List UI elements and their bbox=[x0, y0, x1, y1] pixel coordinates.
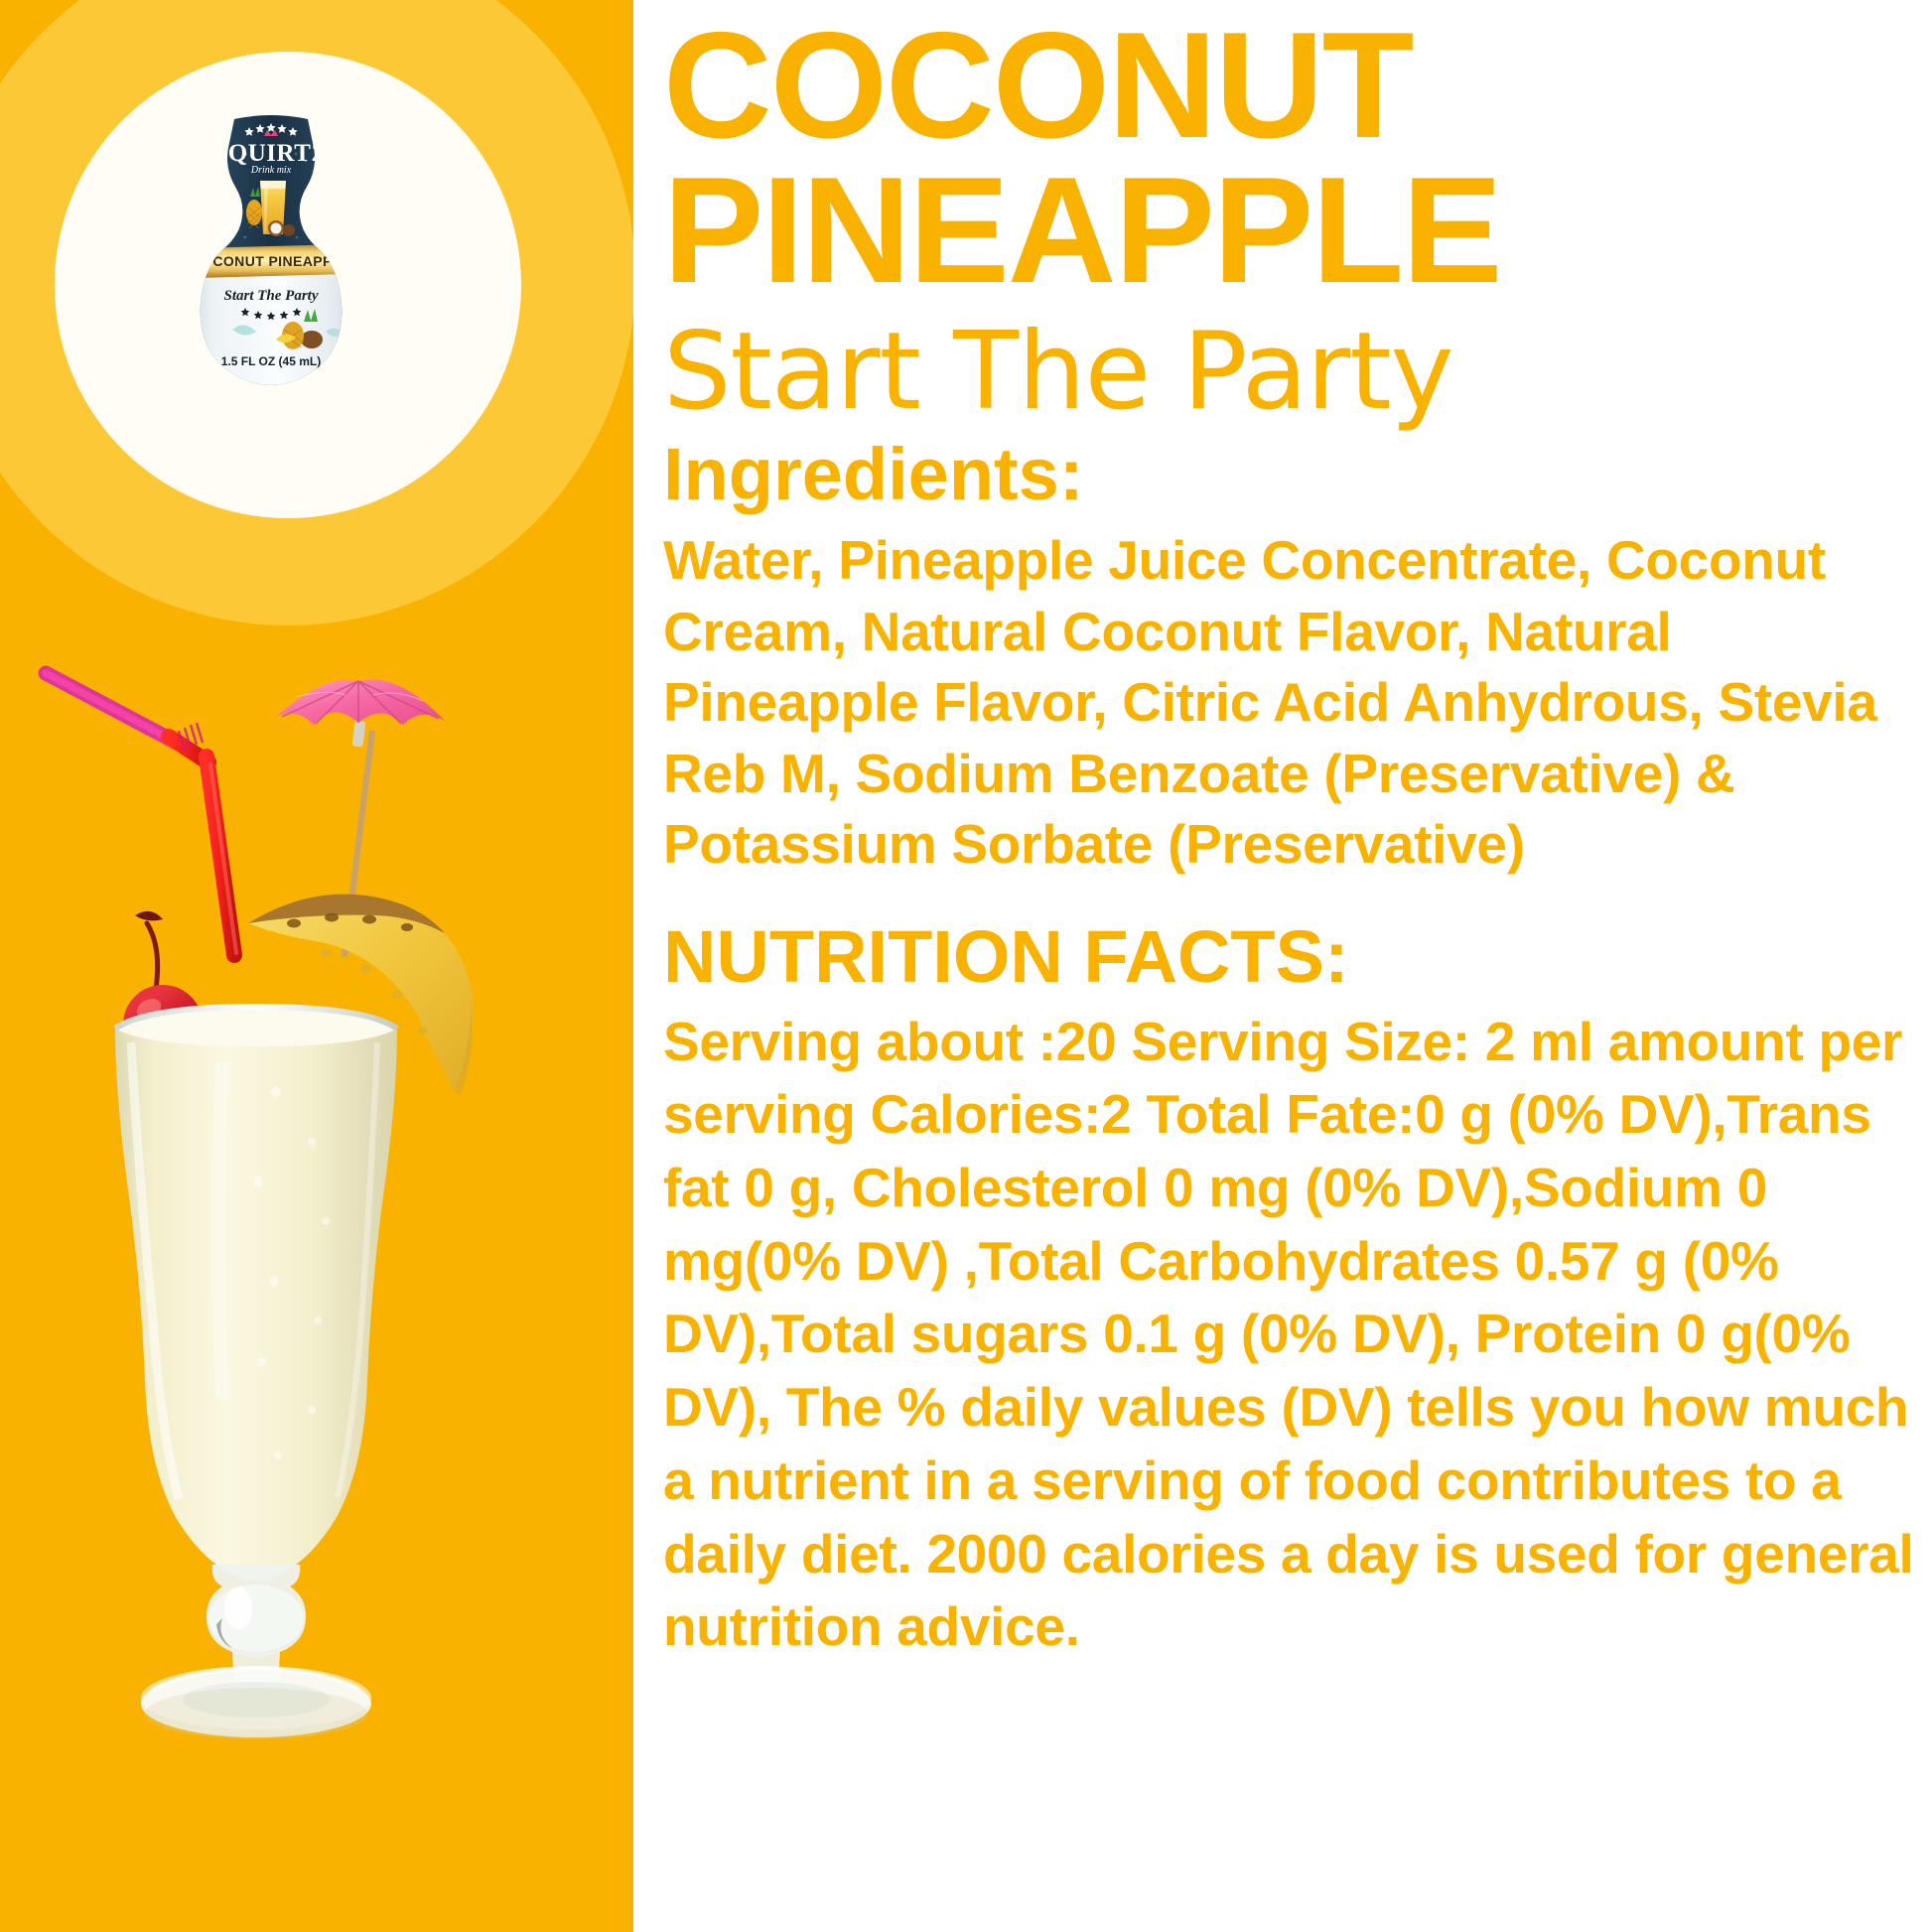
nutrition-facts-heading: NUTRITION FACTS: bbox=[663, 920, 1932, 994]
title-line-1: COCONUT bbox=[663, 14, 1932, 159]
product-bottle-image: SQUIRTZ Drink mix bbox=[177, 109, 365, 392]
product-info-poster: SQUIRTZ Drink mix bbox=[0, 0, 1932, 1932]
svg-text:1.5 FL OZ (45 mL): 1.5 FL OZ (45 mL) bbox=[221, 354, 321, 368]
ingredients-heading: Ingredients: bbox=[663, 438, 1932, 511]
svg-text:Start The Party: Start The Party bbox=[223, 288, 318, 304]
page-title: COCONUT PINEAPPLE bbox=[663, 0, 1932, 304]
nutrition-facts-text: Serving about :20 Serving Size: 2 ml amo… bbox=[663, 1006, 1932, 1664]
ingredients-text: Water, Pineapple Juice Concentrate, Coco… bbox=[663, 525, 1932, 881]
product-details-column: COCONUT PINEAPPLE Start The Party Ingred… bbox=[663, 0, 1932, 1932]
svg-text:Drink mix: Drink mix bbox=[250, 165, 292, 176]
cocktail-glass-image bbox=[28, 625, 524, 1916]
page-subtitle: Start The Party bbox=[663, 316, 1932, 428]
svg-text:COCONUT PINEAPPLE: COCONUT PINEAPPLE bbox=[192, 253, 351, 269]
left-yellow-panel: SQUIRTZ Drink mix bbox=[0, 0, 633, 1932]
svg-text:SQUIRTZ: SQUIRTZ bbox=[213, 140, 328, 167]
title-line-2: PINEAPPLE bbox=[663, 159, 1932, 304]
